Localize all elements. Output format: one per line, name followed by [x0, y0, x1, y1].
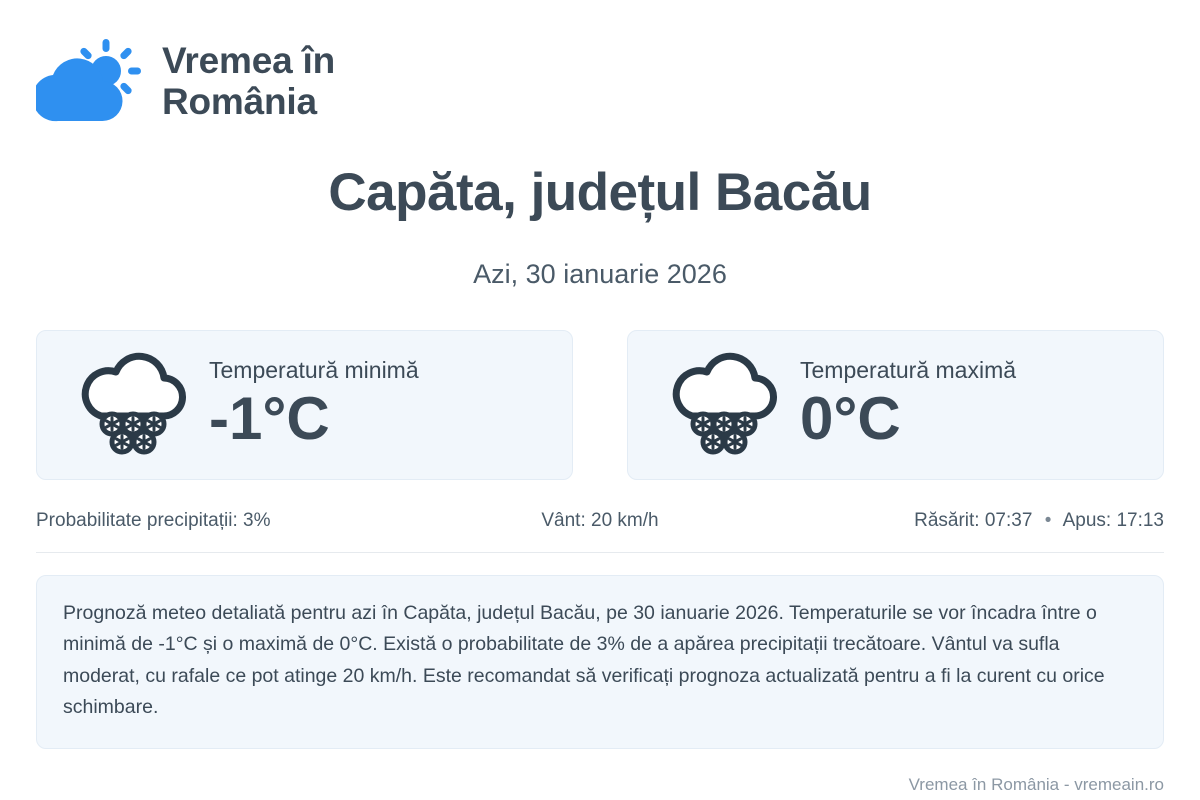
wind-speed: Vânt: 20 km/h — [412, 510, 788, 532]
min-temperature-label: Temperatură minimă — [209, 357, 419, 384]
page-title: Capăta, județul Bacău — [36, 162, 1164, 223]
brand-title: Vremea în România — [162, 40, 335, 123]
forecast-description: Prognoză meteo detaliată pentru azi în C… — [36, 575, 1164, 749]
max-temperature-value: 0°C — [800, 386, 1016, 452]
stats-separator: • — [1038, 510, 1059, 531]
sunrise-sunset: Răsărit: 07:37 • Apus: 17:13 — [788, 510, 1164, 532]
max-temperature-card: Temperatură maximă 0°C — [627, 330, 1164, 480]
min-temperature-value: -1°C — [209, 386, 419, 452]
sun-behind-cloud-icon — [36, 37, 144, 125]
min-temperature-card: Temperatură minimă -1°C — [36, 330, 573, 480]
min-temperature-text: Temperatură minimă -1°C — [209, 357, 419, 452]
brand-title-line2: România — [162, 81, 335, 122]
weather-stats-row: Probabilitate precipitații: 3% Vânt: 20 … — [36, 510, 1164, 553]
brand-title-line1: Vremea în — [162, 40, 335, 81]
footer-credit: Vremea în România - vremeain.ro — [36, 775, 1164, 795]
sunset-time: Apus: 17:13 — [1063, 510, 1164, 531]
precipitation-probability: Probabilitate precipitații: 3% — [36, 510, 412, 532]
weather-page: Vremea în România Capăta, județul Bacău … — [0, 0, 1200, 800]
max-temperature-label: Temperatură maximă — [800, 357, 1016, 384]
temperature-cards: Temperatură minimă -1°C — [36, 330, 1164, 480]
cloud-with-snow-icon — [67, 350, 195, 460]
sunrise-time: Răsărit: 07:37 — [914, 510, 1032, 531]
brand-header: Vremea în România — [36, 0, 1164, 110]
cloud-with-snow-icon — [658, 350, 786, 460]
page-date: Azi, 30 ianuarie 2026 — [36, 259, 1164, 290]
max-temperature-text: Temperatură maximă 0°C — [800, 357, 1016, 452]
